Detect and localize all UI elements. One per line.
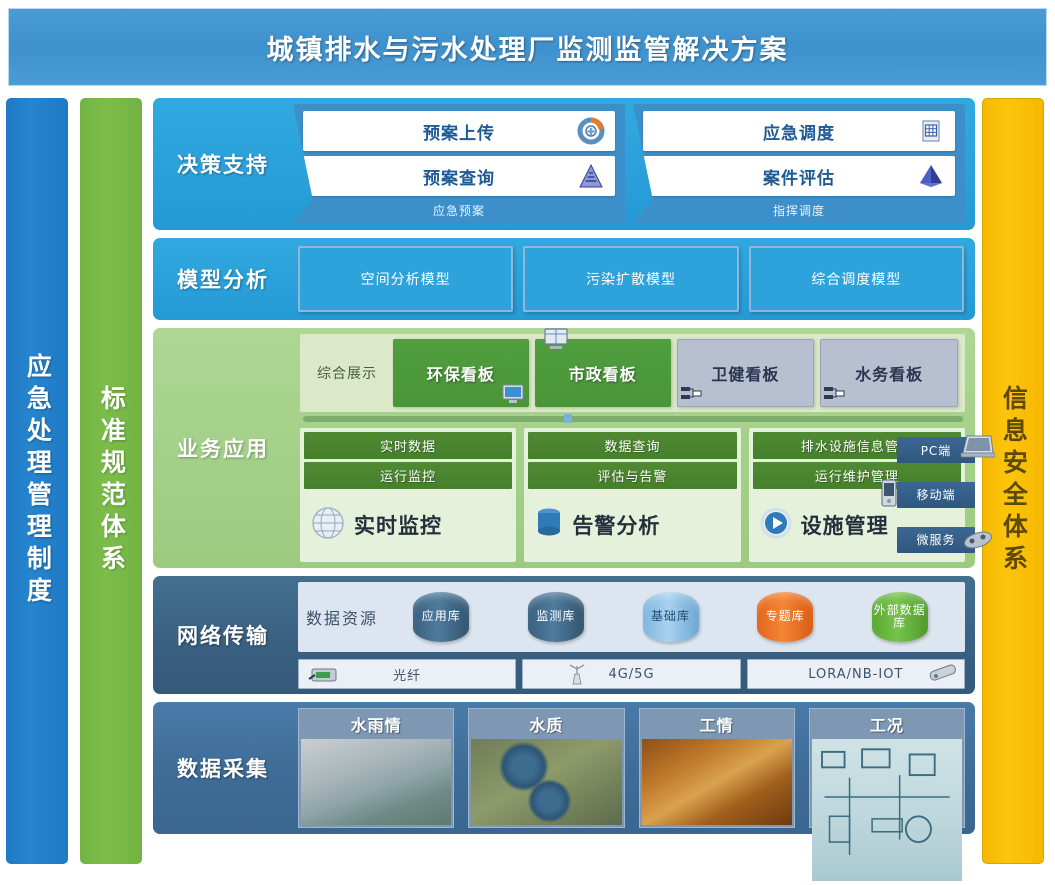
screen-icon <box>543 327 569 351</box>
business-main-realtime-monitor-label: 实时监控 <box>354 510 442 540</box>
model-item-spatial-label: 空间分析模型 <box>361 269 451 289</box>
model-item-pollution-diffusion[interactable]: 污染扩散模型 <box>523 246 738 312</box>
refresh-cycle-icon <box>577 117 605 145</box>
model-item-integrated-dispatch-label: 综合调度模型 <box>811 269 901 289</box>
decision-item-emergency-dispatch-label: 应急调度 <box>763 119 835 144</box>
channel-lora-nbiot[interactable]: LORA/NB-IOT <box>747 659 965 689</box>
globe-icon <box>308 503 348 547</box>
channel-fiber-label: 光纤 <box>393 665 421 684</box>
comprehensive-display-row: 综合展示 环保看板 市政看板 <box>300 334 965 412</box>
network-channels: 光纤 4G/5G LORA/NB-IOT <box>298 659 965 689</box>
kanban-municipal[interactable]: 市政看板 <box>535 339 671 407</box>
acquisition-item-rainfall[interactable]: 水雨情 <box>298 708 454 828</box>
pillar-security-label: 信息安全体系 <box>999 385 1028 577</box>
business-main-alarm-analysis-label: 告警分析 <box>572 510 660 540</box>
display-scrollbar-thumb[interactable] <box>564 414 572 423</box>
layer-business-application: 业务应用 综合展示 环保看板 市政看板 <box>153 328 975 568</box>
decision-item-case-assessment-label: 案件评估 <box>763 164 835 189</box>
database-external-label: 外部数据库 <box>872 592 928 642</box>
decision-item-plan-upload[interactable]: 预案上传 <box>303 111 615 151</box>
channel-lora-nbiot-label: LORA/NB-IOT <box>808 667 903 682</box>
business-main-alarm-analysis[interactable]: 告警分析 <box>528 492 736 558</box>
model-item-integrated-dispatch[interactable]: 综合调度模型 <box>749 246 964 312</box>
kanban-health[interactable]: 卫健看板 <box>677 339 815 407</box>
business-main-realtime-monitor[interactable]: 实时监控 <box>304 492 512 558</box>
device-microservice-label: 微服务 <box>916 531 955 548</box>
channel-mobile-network[interactable]: 4G/5G <box>522 659 740 689</box>
business-column-realtime: 实时数据 运行监控 实时监控 <box>300 428 516 562</box>
service-icon <box>961 527 995 554</box>
acquisition-items: 水雨情 水质 工情 工况 <box>298 708 965 828</box>
business-sub-realtime-data[interactable]: 实时数据 <box>304 432 512 459</box>
pipeline-trench-photo <box>642 739 792 825</box>
client-devices: PC端 移动端 <box>879 428 975 562</box>
device-mobile[interactable]: 移动端 <box>897 482 975 508</box>
database-basic[interactable]: 基础库 <box>613 592 728 642</box>
data-resource-title: 数据资源 <box>306 605 378 629</box>
decision-item-emergency-dispatch[interactable]: 应急调度 <box>643 111 955 151</box>
kanban-municipal-label: 市政看板 <box>569 361 637 385</box>
acquisition-item-works[interactable]: 工情 <box>639 708 795 828</box>
channel-fiber[interactable]: 光纤 <box>298 659 516 689</box>
database-monitoring[interactable]: 监测库 <box>499 592 614 642</box>
business-main-facility-management-label: 设施管理 <box>801 510 889 540</box>
fiber-device-icon <box>307 665 341 689</box>
layer-data-acquisition: 数据采集 水雨情 水质 工情 工况 <box>153 702 975 834</box>
database-monitoring-label: 监测库 <box>528 592 584 642</box>
kanban-environment-label: 环保看板 <box>427 361 495 385</box>
decision-group-emergency-plan: 预案上传 预案查询 <box>293 104 625 224</box>
acquisition-item-condition[interactable]: 工况 <box>809 708 965 828</box>
decision-item-plan-upload-label: 预案上传 <box>423 119 495 144</box>
model-item-pollution-diffusion-label: 污染扩散模型 <box>586 269 676 289</box>
acquisition-item-works-title: 工情 <box>640 709 794 739</box>
comprehensive-display-title: 综合展示 <box>304 363 390 383</box>
database-app[interactable]: 应用库 <box>384 592 499 642</box>
acquisition-item-condition-title: 工况 <box>810 709 964 739</box>
decision-item-plan-query-label: 预案查询 <box>423 164 495 189</box>
grid-table-icon <box>917 117 945 145</box>
monitor-icon <box>501 383 523 403</box>
play-circle-icon <box>757 504 795 546</box>
layer-model-analysis-label: 模型分析 <box>153 238 293 320</box>
pillar-emergency-label: 应急处理管理制度 <box>23 353 52 609</box>
acquisition-item-water-quality[interactable]: 水质 <box>468 708 624 828</box>
sensor-module-icon <box>926 662 960 688</box>
kanban-water-affairs-label: 水务看板 <box>855 361 923 385</box>
layer-model-analysis: 模型分析 空间分析模型 污染扩散模型 综合调度模型 <box>153 238 975 320</box>
model-item-spatial[interactable]: 空间分析模型 <box>298 246 513 312</box>
laptop-icon <box>959 433 995 464</box>
layer-network-transmission-label: 网络传输 <box>153 620 293 650</box>
layer-network-transmission: 网络传输 数据资源 应用库 监测库 基础库 专题库 外部数据库 <box>153 576 975 694</box>
decision-item-case-assessment[interactable]: 案件评估 <box>643 156 955 196</box>
treatment-tanks-photo <box>471 739 621 825</box>
pillar-standard-label: 标准规范体系 <box>97 385 126 577</box>
decision-item-plan-query[interactable]: 预案查询 <box>303 156 615 196</box>
layer-decision-support: 决策支持 预案上传 预案查询 <box>153 98 975 230</box>
chart-node-icon <box>823 384 845 404</box>
channel-mobile-network-label: 4G/5G <box>608 667 654 682</box>
acquisition-item-rainfall-title: 水雨情 <box>299 709 453 739</box>
device-pc-label: PC端 <box>921 442 952 459</box>
layer-decision-support-label: 决策支持 <box>153 98 293 230</box>
pyramid-3d-icon <box>917 162 945 190</box>
display-scrollbar[interactable] <box>303 416 963 422</box>
layer-business-application-label: 业务应用 <box>153 433 293 463</box>
antenna-icon <box>567 662 587 692</box>
decision-group-command-dispatch-footer: 指挥调度 <box>643 201 955 222</box>
pillar-emergency-management: 应急处理管理制度 <box>6 98 68 864</box>
data-resource-row: 数据资源 应用库 监测库 基础库 专题库 外部数据库 <box>298 582 965 652</box>
scada-diagram-photo <box>812 739 962 881</box>
page-title: 城镇排水与污水处理厂监测监管解决方案 <box>267 28 789 67</box>
decision-group-command-dispatch: 应急调度 案件评估 <box>633 104 965 224</box>
database-icon <box>532 503 566 547</box>
database-thematic-label: 专题库 <box>757 592 813 642</box>
page-title-bar: 城镇排水与污水处理厂监测监管解决方案 <box>8 8 1047 86</box>
business-sub-data-query[interactable]: 数据查询 <box>528 432 736 459</box>
database-basic-label: 基础库 <box>643 592 699 642</box>
kanban-health-label: 卫健看板 <box>711 361 779 385</box>
pillar-information-security: 信息安全体系 <box>982 98 1044 864</box>
device-microservice[interactable]: 微服务 <box>897 527 975 553</box>
acquisition-item-water-quality-title: 水质 <box>469 709 623 739</box>
business-sub-operation-monitor[interactable]: 运行监控 <box>304 462 512 489</box>
chart-node-icon <box>680 384 702 404</box>
decision-group-emergency-plan-footer: 应急预案 <box>303 201 615 222</box>
business-column-alarm: 数据查询 评估与告警 告警分析 <box>524 428 740 562</box>
database-app-label: 应用库 <box>413 592 469 642</box>
business-columns: 实时数据 运行监控 实时监控 数据查询 评估与告警 <box>300 428 965 562</box>
mobile-phone-icon <box>879 478 899 511</box>
pillar-standard-system: 标准规范体系 <box>80 98 142 864</box>
river-channel-photo <box>301 739 451 825</box>
device-pc[interactable]: PC端 <box>897 437 975 463</box>
database-external[interactable]: 外部数据库 <box>842 592 957 642</box>
layer-data-acquisition-label: 数据采集 <box>153 753 293 783</box>
business-sub-assess-alarm[interactable]: 评估与告警 <box>528 462 736 489</box>
kanban-environment[interactable]: 环保看板 <box>393 339 529 407</box>
kanban-water-affairs[interactable]: 水务看板 <box>820 339 958 407</box>
database-thematic[interactable]: 专题库 <box>728 592 843 642</box>
pyramid-layers-icon <box>577 162 605 190</box>
device-mobile-label: 移动端 <box>916 486 955 503</box>
architecture-stack: 决策支持 预案上传 预案查询 <box>153 98 975 864</box>
